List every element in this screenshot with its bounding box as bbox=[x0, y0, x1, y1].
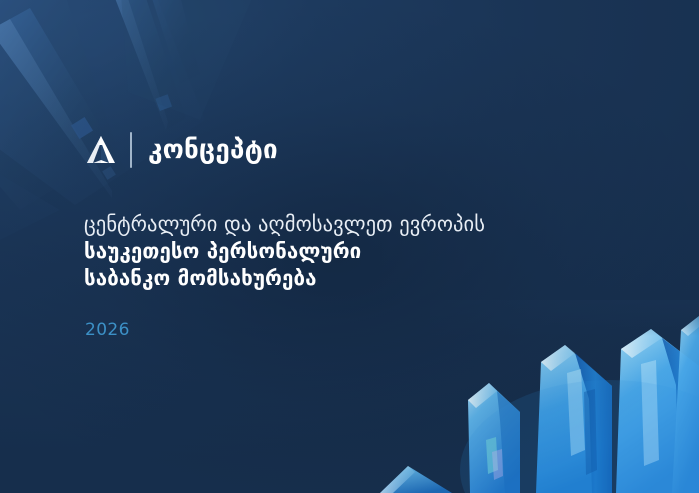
headline-line-2: საუკეთესო პერსონალური bbox=[84, 238, 644, 265]
slide-content: კონცეპტი ცენტრალური და აღმოსავლეთ ევროპი… bbox=[84, 0, 644, 493]
brand-wordmark: კონცეპტი bbox=[148, 137, 278, 163]
brand-lockup: კონცეპტი bbox=[84, 128, 278, 172]
triangular-prism-logo-icon bbox=[84, 133, 118, 167]
vertical-divider-icon bbox=[130, 132, 132, 168]
title-slide: კონცეპტი ცენტრალური და აღმოსავლეთ ევროპი… bbox=[0, 0, 699, 493]
headline-line-3: საბანკო მომსახურება bbox=[84, 265, 644, 292]
year-label: 2026 bbox=[85, 320, 130, 340]
headline-line-1: ცენტრალური და აღმოსავლეთ ევროპის bbox=[84, 211, 644, 238]
page-title: ცენტრალური და აღმოსავლეთ ევროპის საუკეთე… bbox=[84, 211, 644, 292]
